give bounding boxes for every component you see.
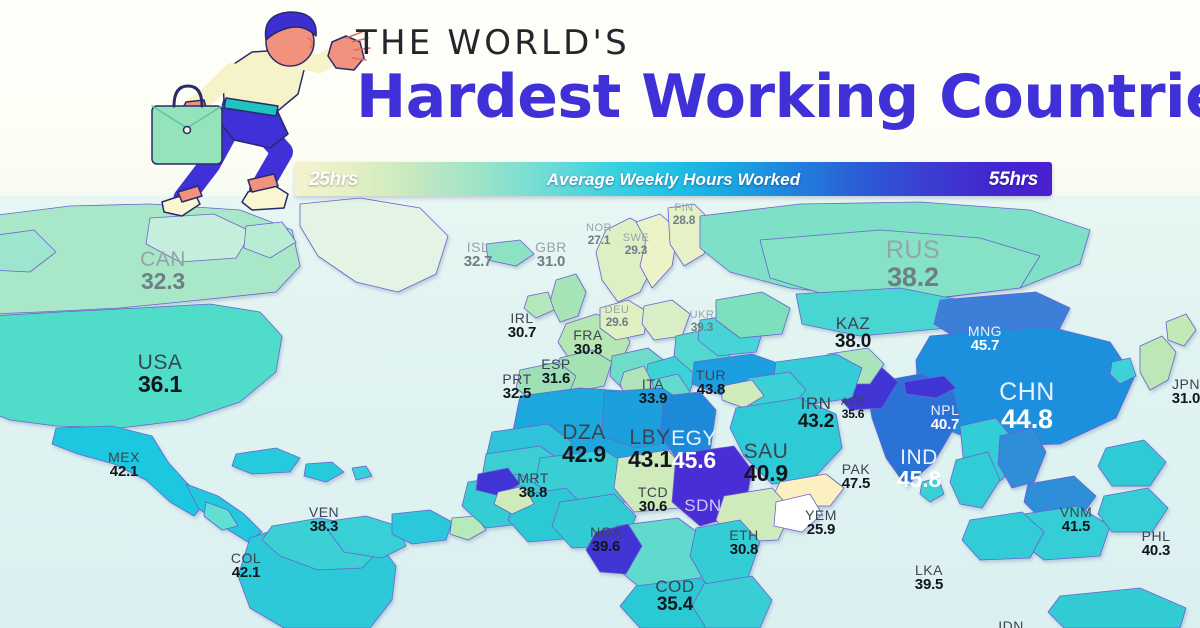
legend-max-label: 55hrs — [989, 169, 1038, 191]
color-scale-legend: 25hrs Average Weekly Hours Worked 55hrs — [295, 162, 1052, 196]
page-title: Hardest Working Countries — [356, 66, 1076, 128]
title-block: THE WORLD'S Hardest Working Countries — [356, 26, 1076, 128]
world-choropleth-map: CAN32.3USA36.1MEX42.1VEN38.3COL42.1ISL32… — [0, 196, 1200, 628]
map-svg — [0, 196, 1200, 628]
eyebrow-text: THE WORLD'S — [356, 26, 1076, 60]
legend-caption: Average Weekly Hours Worked — [295, 170, 1052, 190]
infographic-canvas: CAN32.3USA36.1MEX42.1VEN38.3COL42.1ISL32… — [0, 0, 1200, 628]
